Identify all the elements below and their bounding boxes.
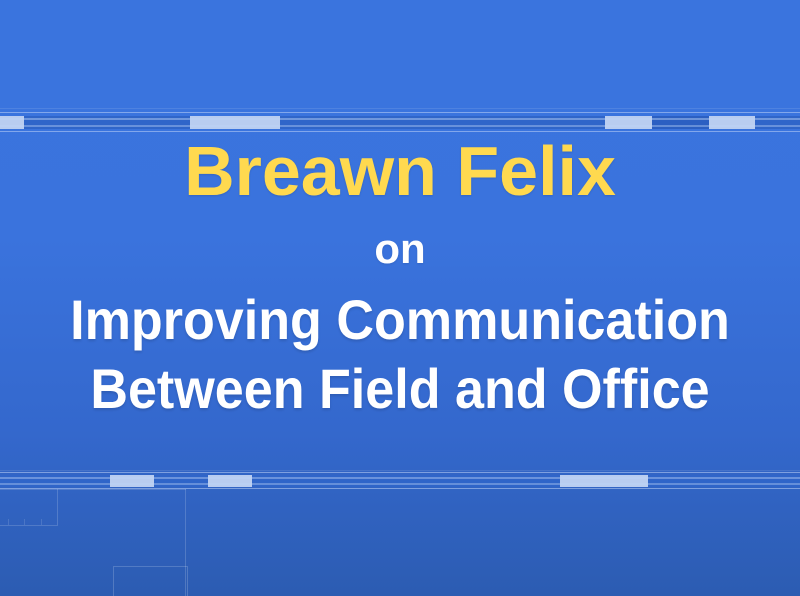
topic-line-1: Improving Communication — [28, 292, 772, 348]
title-text-block: Breawn Felix on Improving Communication … — [0, 0, 800, 596]
connector-word: on — [0, 228, 800, 270]
speaker-name: Breawn Felix — [0, 136, 800, 206]
title-card-slide: Breawn Felix on Improving Communication … — [0, 0, 800, 596]
topic-line-2: Between Field and Office — [28, 361, 772, 417]
